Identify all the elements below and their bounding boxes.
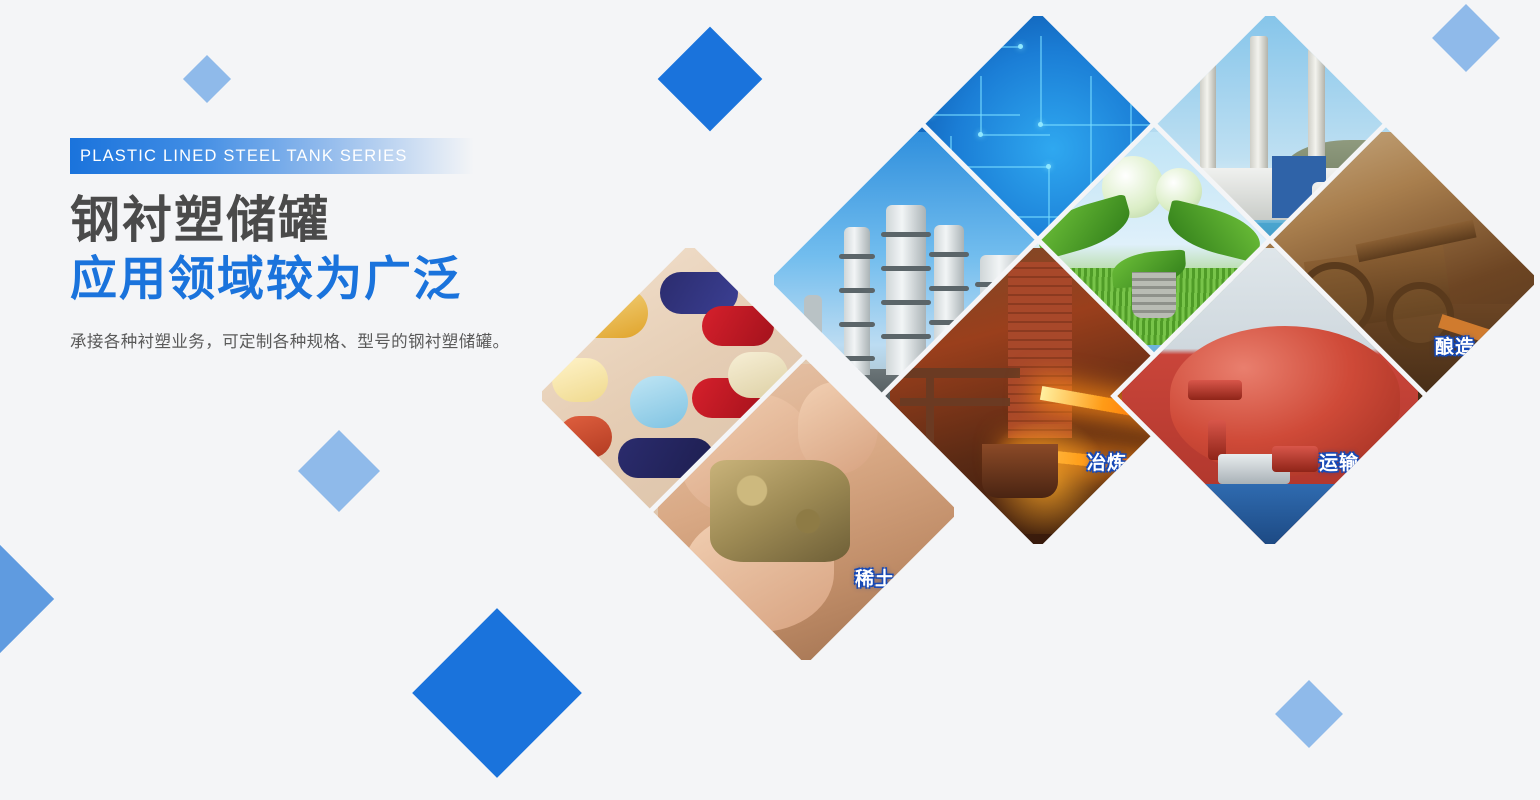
page-subtitle: 应用领域较为广泛 [70, 252, 690, 306]
industry-diamond-collage: 电子电厂化工环保酿造制药冶炼运输稀土 [0, 0, 1540, 800]
page-description: 承接各种衬塑业务，可定制各种规格、型号的钢衬塑储罐。 [70, 328, 690, 352]
eyebrow-banner: PLASTIC LINED STEEL TANK SERIES [70, 138, 474, 174]
promo-banner: 电子电厂化工环保酿造制药冶炼运输稀土 PLASTIC LINED STEEL T… [0, 0, 1540, 800]
page-title: 钢衬塑储罐 [70, 192, 690, 248]
headline-block: PLASTIC LINED STEEL TANK SERIES 钢衬塑储罐 应用… [70, 138, 690, 352]
